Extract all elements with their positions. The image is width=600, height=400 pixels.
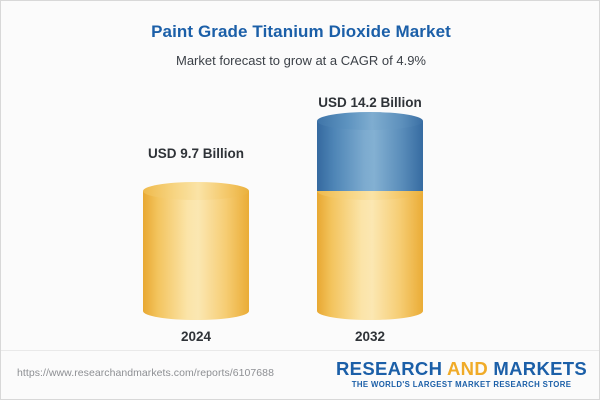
bar-segment-growth-2032 <box>317 121 423 191</box>
bar-segment-base-2024 <box>143 191 249 311</box>
segment-body <box>317 191 423 311</box>
footer: https://www.researchandmarkets.com/repor… <box>1 350 600 399</box>
brand-name-part1: RESEARCH <box>336 358 447 379</box>
infographic-card: Paint Grade Titanium Dioxide Market Mark… <box>0 0 600 400</box>
axis-label-2024: 2024 <box>116 328 276 345</box>
brand-name: RESEARCH AND MARKETS <box>336 358 587 379</box>
segment-body <box>143 191 249 311</box>
bar-group-2032: USD 14.2 Billion 2032 <box>290 89 450 345</box>
cylinder-bottom-ellipse <box>143 302 249 320</box>
chart-subtitle: Market forecast to grow at a CAGR of 4.9… <box>1 43 600 69</box>
segment-top-ellipse <box>317 112 423 130</box>
chart-header: Paint Grade Titanium Dioxide Market Mark… <box>1 1 600 69</box>
brand-tagline: THE WORLD'S LARGEST MARKET RESEARCH STOR… <box>336 379 587 390</box>
cylinder-2032 <box>317 121 423 311</box>
bar-value-label-2032: USD 14.2 Billion <box>290 95 450 111</box>
bar-value-label-2024: USD 9.7 Billion <box>116 146 276 162</box>
cylinder-bottom-ellipse <box>317 302 423 320</box>
bar-segment-base-2032 <box>317 191 423 311</box>
brand-name-part3: MARKETS <box>488 358 587 379</box>
segment-body <box>317 121 423 191</box>
segment-top-ellipse <box>143 182 249 200</box>
page-title: Paint Grade Titanium Dioxide Market <box>1 21 600 43</box>
source-url[interactable]: https://www.researchandmarkets.com/repor… <box>17 367 274 379</box>
bar-group-2024: USD 9.7 Billion 2024 <box>116 89 276 345</box>
cylinder-2024 <box>143 191 249 311</box>
axis-label-2032: 2032 <box>290 328 450 345</box>
brand-logo[interactable]: RESEARCH AND MARKETS THE WORLD'S LARGEST… <box>336 358 587 390</box>
chart-plot-area: USD 9.7 Billion 2024 USD 14.2 Billion <box>1 89 600 345</box>
brand-name-part2: AND <box>447 358 488 379</box>
